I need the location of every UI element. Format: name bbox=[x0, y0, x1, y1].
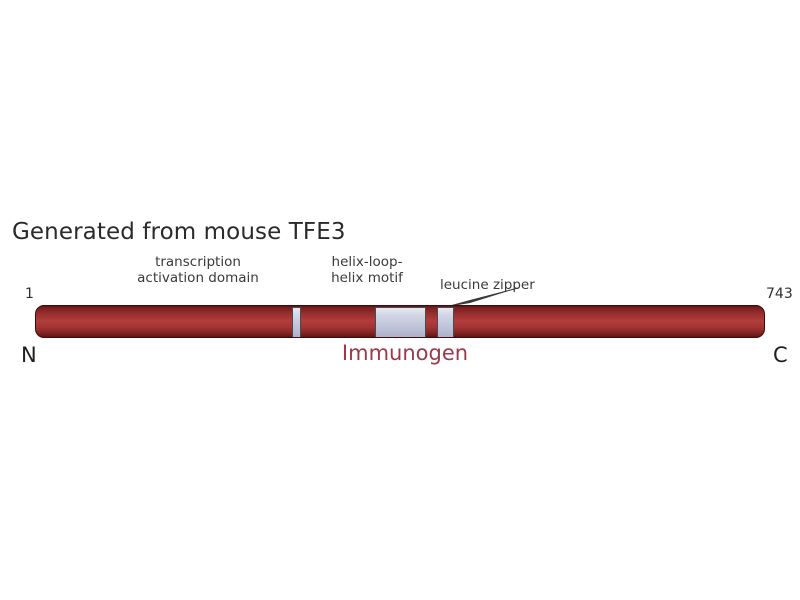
domain-box-transcription-activation-domain bbox=[292, 307, 301, 338]
residue-number-start: 1 bbox=[25, 286, 34, 302]
domain-label-line2: helix motif bbox=[307, 271, 427, 287]
n-terminus-label: N bbox=[21, 343, 37, 367]
domain-box-helix-loop-helix-motif bbox=[375, 307, 426, 338]
domain-label-line1: helix-loop- bbox=[307, 255, 427, 271]
domain-label-line1: leucine zipper bbox=[440, 278, 585, 294]
domain-label-line1: transcription bbox=[108, 255, 288, 271]
domain-label-helix-loop-helix-motif: helix-loop- helix motif bbox=[307, 255, 427, 286]
immunogen-caption: Immunogen bbox=[305, 341, 505, 365]
protein-backbone-bar bbox=[35, 305, 765, 338]
domain-box-leucine-zipper bbox=[437, 307, 454, 338]
domain-label-leucine-zipper: leucine zipper bbox=[440, 278, 585, 294]
domain-label-transcription-activation-domain: transcription activation domain bbox=[108, 255, 288, 286]
protein-domain-figure: Generated from mouse TFE3 transcription … bbox=[0, 0, 800, 600]
residue-number-end: 743 bbox=[766, 286, 793, 302]
c-terminus-label: C bbox=[773, 343, 788, 367]
page-title: Generated from mouse TFE3 bbox=[12, 219, 346, 245]
domain-label-line2: activation domain bbox=[108, 271, 288, 287]
